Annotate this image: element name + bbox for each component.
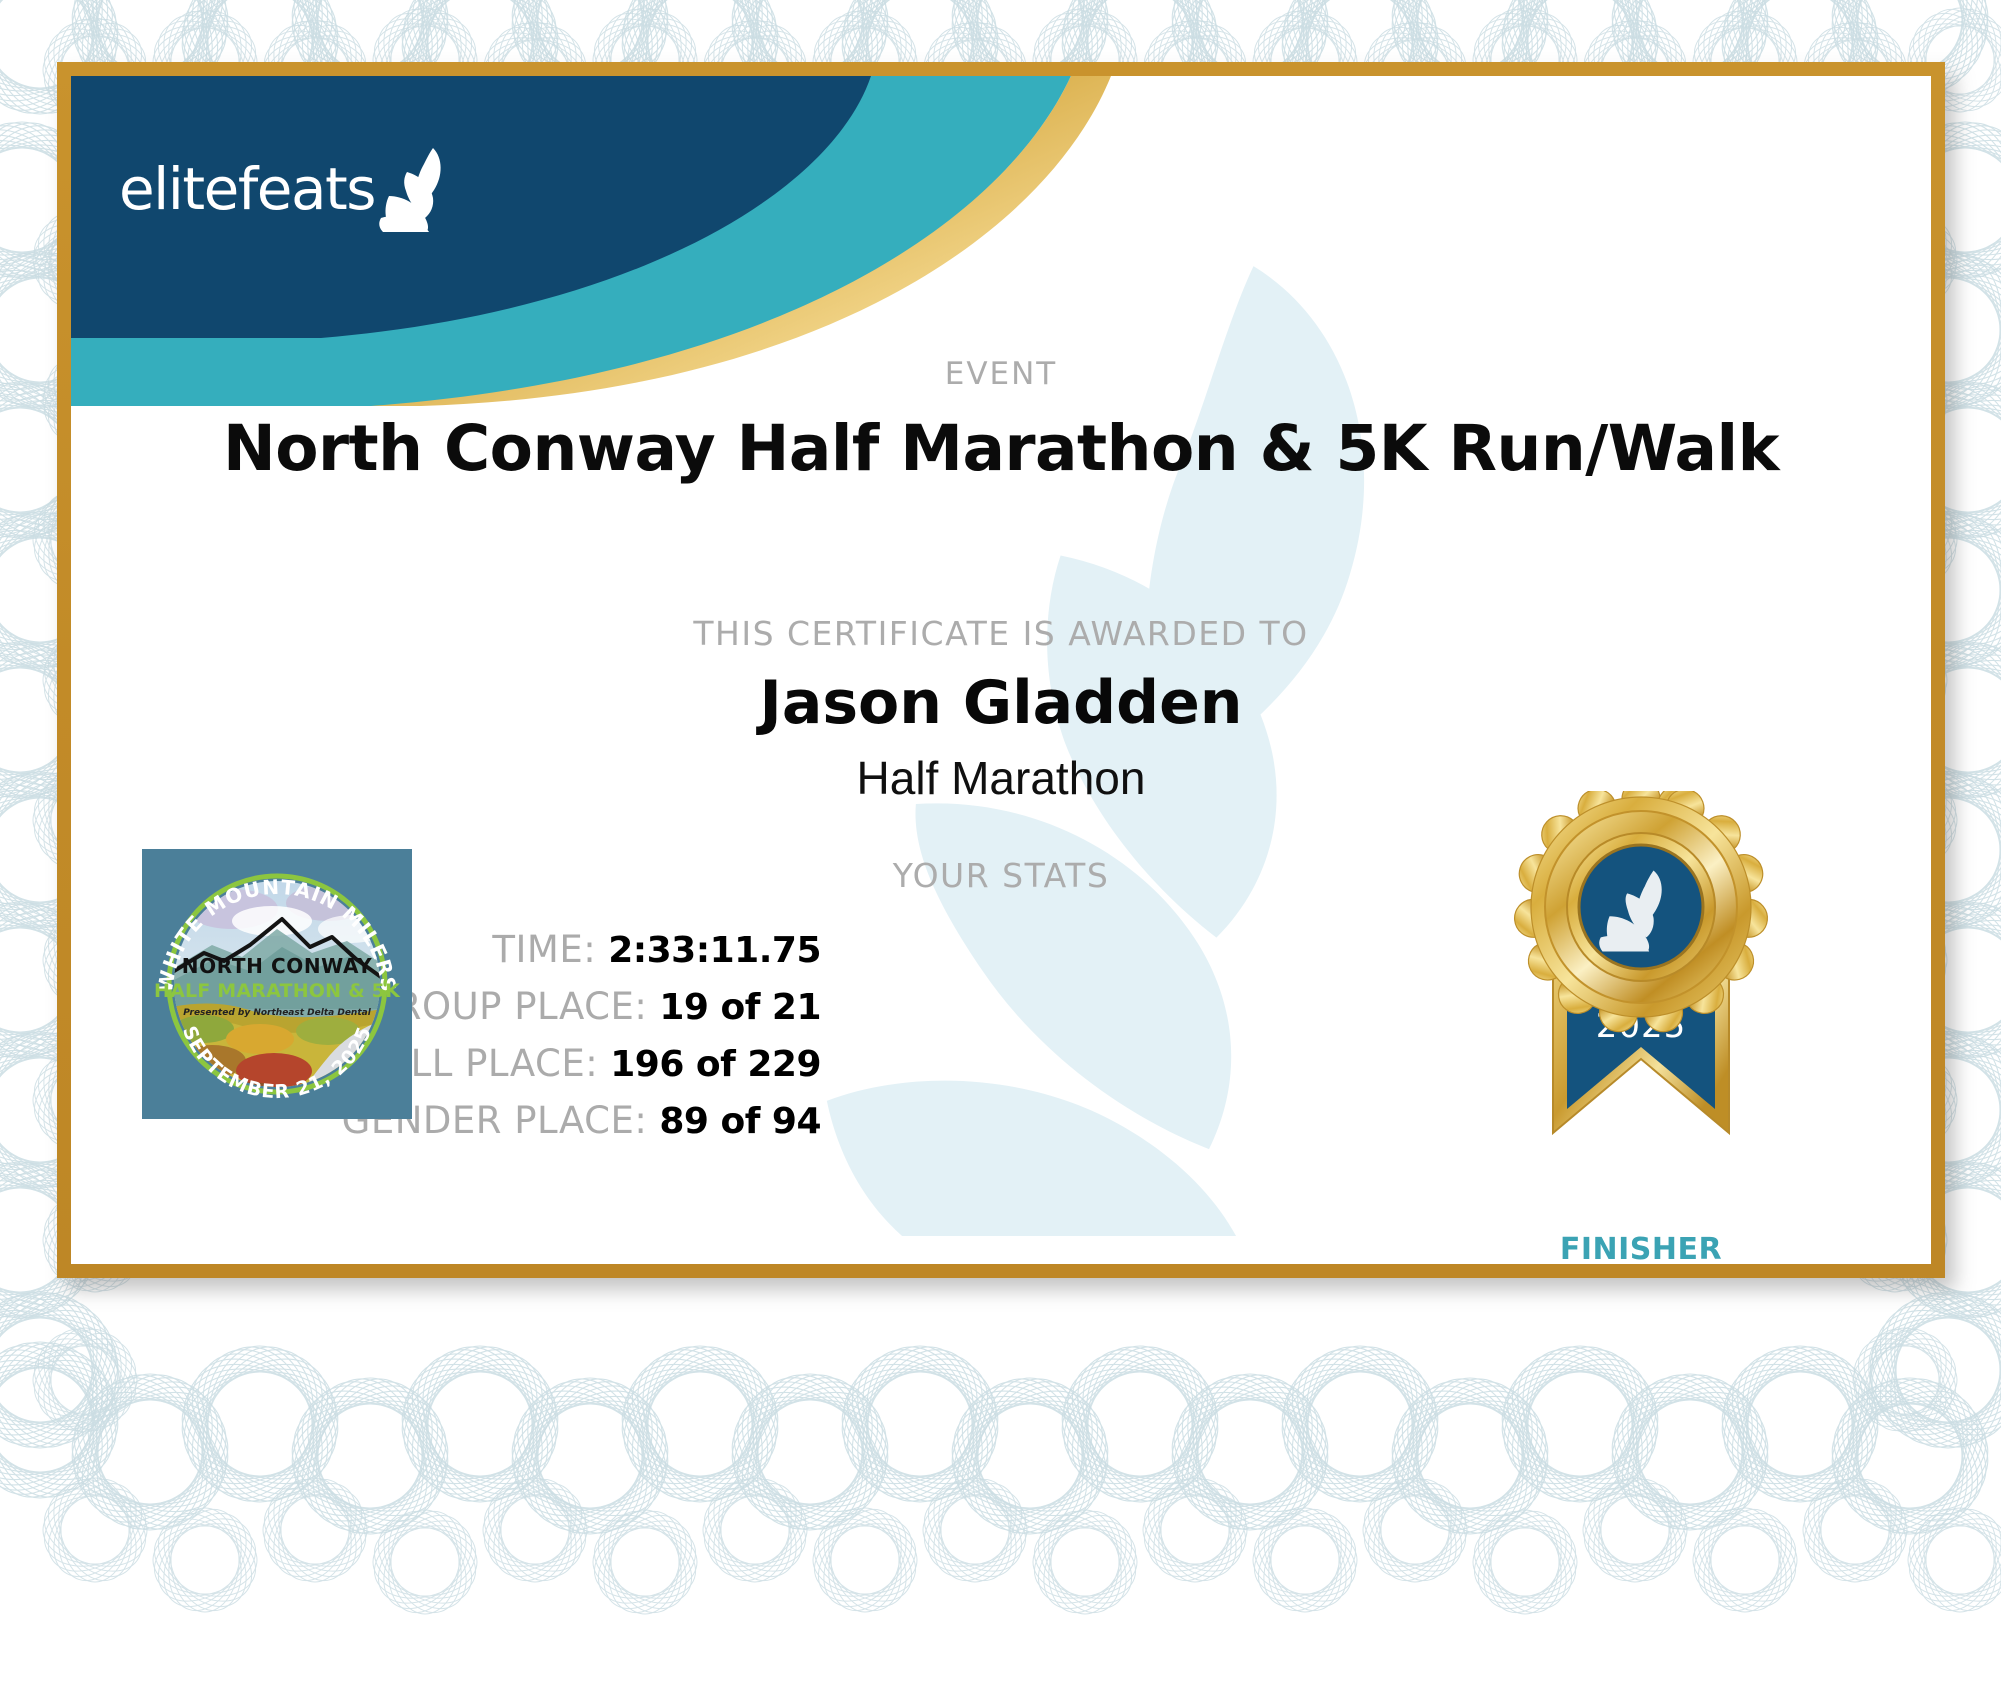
certificate-inner: elitefeats EVENT North Conway Half Marat… [71,76,1931,1264]
race-logo-title-line2: HALF MARATHON & 5K [154,980,401,1002]
badge-caption: FINISHER CERTIFICATE [1491,1234,1791,1264]
race-logo: WHITE MOUNTAIN MILERS SEPTEMBER 21, 2025… [142,849,412,1119]
stat-value: 2:33:11.75 [608,930,821,971]
awarded-to-label: THIS CERTIFICATE IS AWARDED TO [71,614,1931,653]
event-title: North Conway Half Marathon & 5K Run/Walk [71,412,1931,485]
finisher-medal-ribbon-icon: 2025 [1491,791,1791,1221]
badge-caption-line1: FINISHER [1491,1234,1791,1264]
recipient-name: Jason Gladden [71,668,1931,738]
elitefeats-logo: elitefeats [119,146,451,232]
stat-value: 196 of 229 [610,1044,821,1085]
stat-label: TIME: [492,928,596,971]
race-logo-presented-by: Presented by Northeast Delta Dental [183,1008,372,1018]
finisher-badge: 2025 [1491,791,1791,1264]
stat-value: 19 of 21 [659,987,821,1028]
certificate-page: elitefeats EVENT North Conway Half Marat… [0,0,2001,1700]
event-label: EVENT [71,356,1931,392]
certificate-card: elitefeats EVENT North Conway Half Marat… [57,62,1945,1278]
brand-wordmark: elitefeats [119,155,375,223]
stat-value: 89 of 94 [659,1101,821,1142]
race-logo-title-line1: NORTH CONWAY [182,954,372,978]
winged-foot-icon [377,146,451,232]
